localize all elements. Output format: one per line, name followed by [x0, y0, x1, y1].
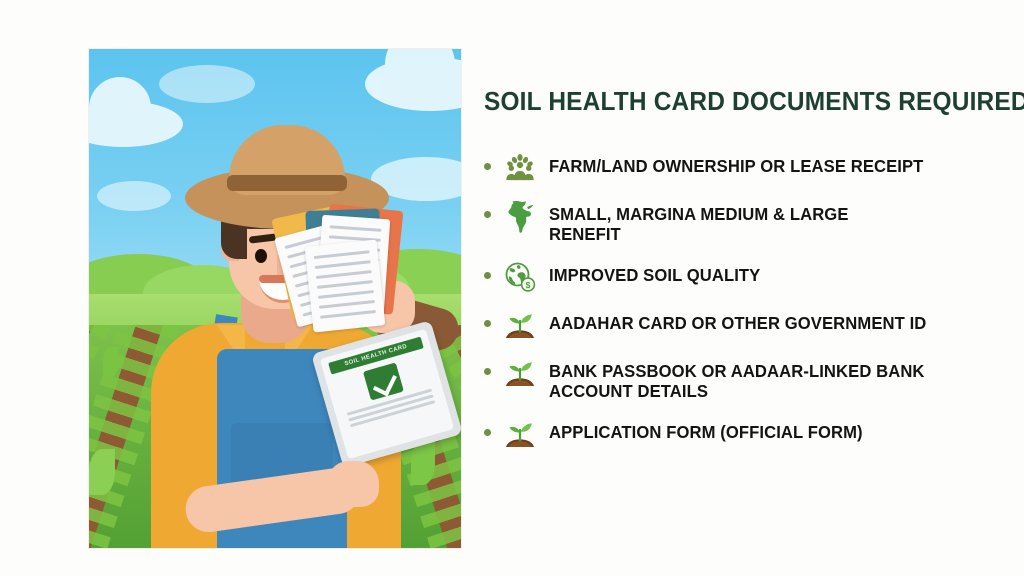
list-item[interactable]: $ IMPROVED SOIL QUALITY [484, 260, 984, 294]
tablet-screen: SOIL HEALTH CARD [320, 329, 454, 459]
farmers-group-icon [503, 151, 537, 185]
india-map-icon [503, 199, 537, 233]
list-item[interactable]: FARM/LAND OWNERSHIP OR LEASE RECEIPT [484, 151, 984, 185]
bullet-dot [484, 368, 491, 375]
seedling-soil-icon [503, 417, 537, 451]
bullet-dot [484, 163, 491, 170]
list-item[interactable]: APPLICATION FORM (OFFICIAL FORM) [484, 417, 984, 451]
infographic-slide: SOIL HEALTH CARD SOIL HEALTH CARD DOCUME… [0, 0, 1024, 576]
farmer-left-hand [327, 461, 379, 507]
list-item-label: APPLICATION FORM (OFFICIAL FORM) [549, 417, 863, 443]
list-item[interactable]: BANK PASSBOOK OR AADAAR-LINKED BANK ACCO… [484, 356, 984, 401]
farmer-with-soil-health-card-illustration: SOIL HEALTH CARD [88, 48, 462, 549]
list-item-label: FARM/LAND OWNERSHIP OR LEASE RECEIPT [549, 151, 923, 177]
page-title: SOIL HEALTH CARD DOCUMENTS REQUIRED [484, 86, 954, 117]
bullet-dot [484, 272, 491, 279]
list-item-label: AADAHAR CARD OR OTHER GOVERNMENT ID [549, 308, 926, 334]
farmer-eye [255, 249, 267, 263]
bullet-dot [484, 429, 491, 436]
globe-money-icon: $ [503, 260, 537, 294]
list-item-label: SMALL, MARGINA MEDIUM & LARGE RENEFIT [549, 199, 849, 244]
held-documents [279, 201, 415, 333]
seedling-soil-icon [503, 356, 537, 390]
list-item[interactable]: AADAHAR CARD OR OTHER GOVERNMENT ID [484, 308, 984, 342]
seedling-soil-icon [503, 308, 537, 342]
list-item-label: IMPROVED SOIL QUALITY [549, 260, 760, 286]
bullet-dot [484, 211, 491, 218]
straw-hat-band [227, 175, 347, 191]
bullet-dot [484, 320, 491, 327]
list-item[interactable]: SMALL, MARGINA MEDIUM & LARGE RENEFIT [484, 199, 984, 244]
list-item-label: BANK PASSBOOK OR AADAAR-LINKED BANK ACCO… [549, 356, 925, 401]
documents-panel: SOIL HEALTH CARD DOCUMENTS REQUIRED [484, 86, 984, 465]
check-mark-icon [363, 362, 404, 400]
svg-text:$: $ [526, 280, 531, 290]
farmer-figure: SOIL HEALTH CARD [89, 49, 461, 548]
required-documents-list: FARM/LAND OWNERSHIP OR LEASE RECEIPT SMA… [484, 151, 984, 451]
document-page [305, 239, 386, 332]
